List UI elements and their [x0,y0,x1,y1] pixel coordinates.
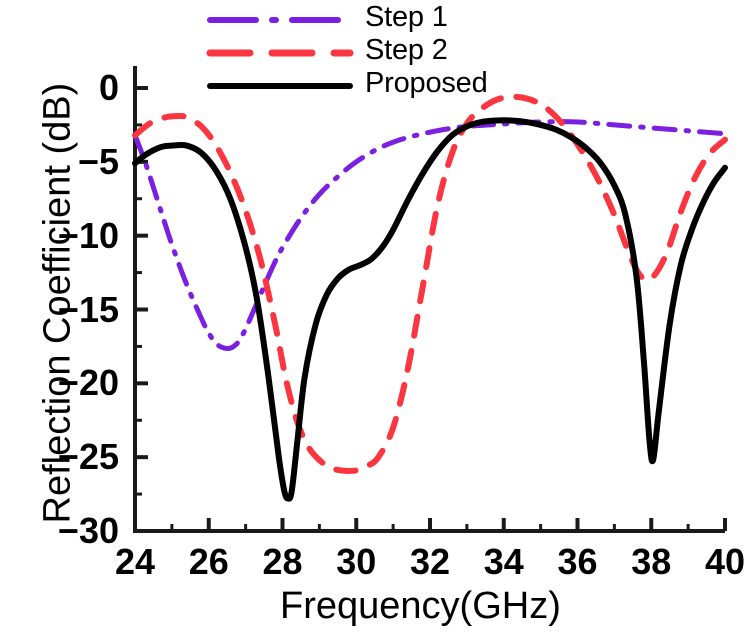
x-tick-label: 30 [336,541,376,583]
chart-figure: Step 1 Step 2 Proposed 24262830323436384… [0,0,750,643]
legend-label-step-1: Step 1 [365,1,448,34]
x-axis-label: Frequency(GHz) [280,585,561,628]
legend-label-proposed: Proposed [365,67,488,100]
x-tick-label: 24 [115,541,155,583]
x-tick-label: 26 [189,541,229,583]
x-tick-label: 36 [557,541,597,583]
x-tick-label: 34 [484,541,524,583]
x-tick-label: 38 [631,541,671,583]
x-tick-label: 40 [705,541,745,583]
legend-label-step-2: Step 2 [365,34,448,67]
legend-swatches [210,20,350,86]
series-line-proposed [135,120,725,498]
data-series [135,97,725,499]
x-tick-label: 28 [262,541,302,583]
x-tick-label: 32 [410,541,450,583]
y-axis-label: Reflection Coefficient (dB) [37,104,80,524]
